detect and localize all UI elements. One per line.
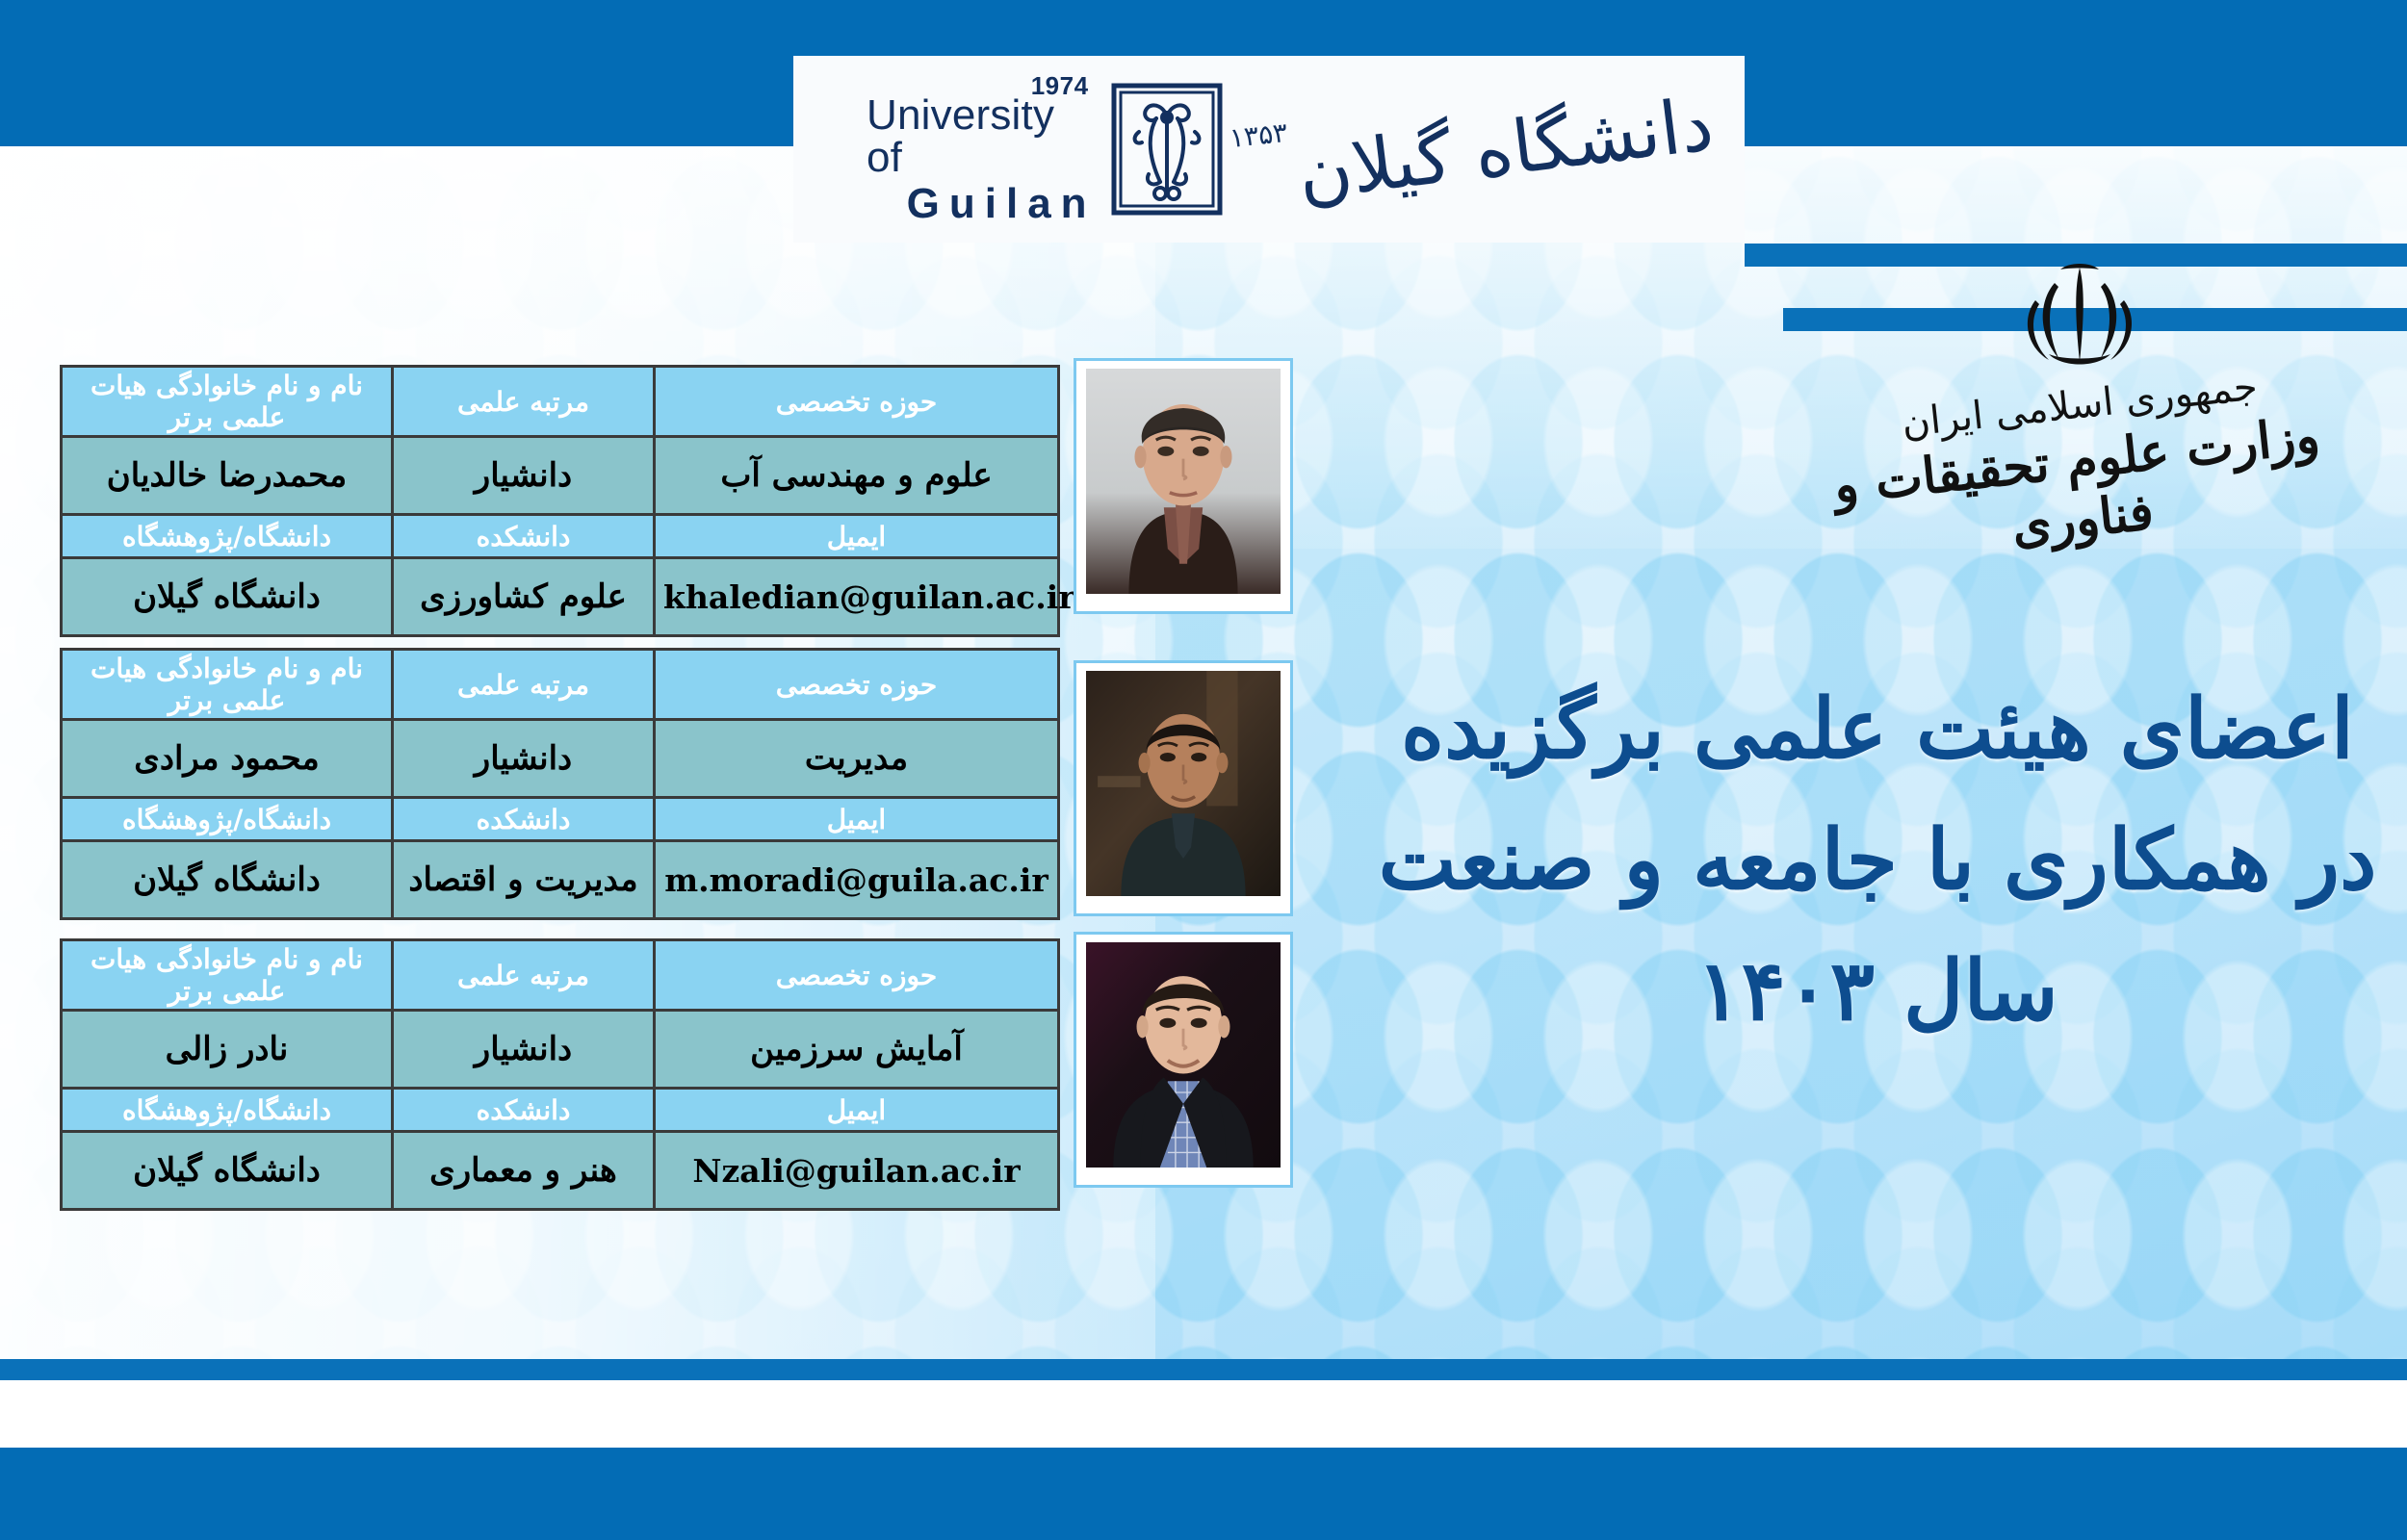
faculty-table: حوزه تخصصی مرتبه علمی نام و نام خانوادگی… bbox=[60, 365, 1060, 637]
column-header-email: ایمیل bbox=[655, 1089, 1059, 1132]
page-title-line-1: اعضای هیئت علمی برگزیده bbox=[1377, 664, 2378, 795]
table-row: مدیریت دانشیار محمود مرادی bbox=[62, 720, 1059, 798]
cell-specialty: علوم و مهندسی آب bbox=[655, 437, 1059, 515]
column-header-school: دانشکده bbox=[393, 515, 655, 558]
cell-academic-rank: دانشیار bbox=[393, 437, 655, 515]
footer-white-band bbox=[0, 1380, 2407, 1448]
table-header-row: ایمیل دانشکده دانشگاه/پژوهشگاه bbox=[62, 1089, 1059, 1132]
cell-institution: دانشگاه گیلان bbox=[62, 558, 393, 636]
avatar bbox=[1086, 671, 1281, 896]
ministry-block: جمهوری اسلامی ایران وزارت علوم تحقیقات و… bbox=[1810, 258, 2349, 549]
cell-institution: دانشگاه گیلان bbox=[62, 1132, 393, 1210]
faculty-table: حوزه تخصصی مرتبه علمی نام و نام خانوادگی… bbox=[60, 938, 1060, 1211]
table-row: Nzali@guilan.ac.ir هنر و معماری دانشگاه … bbox=[62, 1132, 1059, 1210]
cell-email[interactable]: Nzali@guilan.ac.ir bbox=[655, 1132, 1059, 1210]
column-header-academic-rank: مرتبه علمی bbox=[393, 940, 655, 1011]
table-row: آمایش سرزمین دانشیار نادر زالی bbox=[62, 1011, 1059, 1089]
poster-canvas: 1974 University of Guilan ۱۳۵۳ bbox=[0, 0, 2407, 1540]
column-header-specialty: حوزه تخصصی bbox=[655, 367, 1059, 437]
university-founded-year-persian: ۱۳۵۳ bbox=[1228, 116, 1288, 154]
portrait-photo-3 bbox=[1086, 942, 1281, 1168]
table-header-row: ایمیل دانشکده دانشگاه/پژوهشگاه bbox=[62, 798, 1059, 841]
faculty-photo-frame bbox=[1074, 358, 1293, 614]
column-header-specialty: حوزه تخصصی bbox=[655, 650, 1059, 720]
faculty-photo-frame bbox=[1074, 932, 1293, 1188]
page-title: اعضای هیئت علمی برگزیده در همکاری با جام… bbox=[1377, 664, 2378, 1057]
cell-specialty: مدیریت bbox=[655, 720, 1059, 798]
cell-school: هنر و معماری bbox=[393, 1132, 655, 1210]
table-header-row: حوزه تخصصی مرتبه علمی نام و نام خانوادگی… bbox=[62, 940, 1059, 1011]
column-header-name: نام و نام خانوادگی هیات علمی برتر bbox=[62, 367, 393, 437]
page-title-line-2: در همکاری با جامعه و صنعت bbox=[1377, 795, 2378, 926]
cell-school: علوم کشاورزی bbox=[393, 558, 655, 636]
table-row: khaledian@guilan.ac.ir علوم کشاورزی دانش… bbox=[62, 558, 1059, 636]
page-title-line-3: سال ۱۴۰۳ bbox=[1377, 926, 2378, 1057]
column-header-name: نام و نام خانوادگی هیات علمی برتر bbox=[62, 650, 393, 720]
cell-school: مدیریت و اقتصاد bbox=[393, 841, 655, 919]
column-header-email: ایمیل bbox=[655, 798, 1059, 841]
table-header-row: ایمیل دانشکده دانشگاه/پژوهشگاه bbox=[62, 515, 1059, 558]
table-row: علوم و مهندسی آب دانشیار محمدرضا خالدیان bbox=[62, 437, 1059, 515]
column-header-school: دانشکده bbox=[393, 798, 655, 841]
university-logo-line2: Guilan bbox=[907, 183, 1097, 225]
cell-email[interactable]: m.moradi@guila.ac.ir bbox=[655, 841, 1059, 919]
column-header-academic-rank: مرتبه علمی bbox=[393, 367, 655, 437]
faculty-photo-frame bbox=[1074, 660, 1293, 916]
column-header-institution: دانشگاه/پژوهشگاه bbox=[62, 798, 393, 841]
cell-name: نادر زالی bbox=[62, 1011, 393, 1089]
cell-institution: دانشگاه گیلان bbox=[62, 841, 393, 919]
cell-email[interactable]: khaledian@guilan.ac.ir bbox=[655, 558, 1059, 636]
cell-name: محمدرضا خالدیان bbox=[62, 437, 393, 515]
column-header-institution: دانشگاه/پژوهشگاه bbox=[62, 1089, 393, 1132]
cell-academic-rank: دانشیار bbox=[393, 720, 655, 798]
avatar bbox=[1086, 942, 1281, 1168]
university-logo: 1974 University of Guilan ۱۳۵۳ bbox=[867, 77, 1714, 221]
footer-blue-band bbox=[0, 1448, 2407, 1540]
faculty-table: حوزه تخصصی مرتبه علمی نام و نام خانوادگی… bbox=[60, 648, 1060, 920]
university-logo-persian-name: دانشگاه گیلان bbox=[1294, 88, 1717, 211]
table-header-row: حوزه تخصصی مرتبه علمی نام و نام خانوادگی… bbox=[62, 650, 1059, 720]
column-header-school: دانشکده bbox=[393, 1089, 655, 1132]
cell-specialty: آمایش سرزمین bbox=[655, 1011, 1059, 1089]
cell-academic-rank: دانشیار bbox=[393, 1011, 655, 1089]
guilan-butterfly-mark-icon bbox=[1110, 82, 1224, 217]
column-header-email: ایمیل bbox=[655, 515, 1059, 558]
column-header-name: نام و نام خانوادگی هیات علمی برتر bbox=[62, 940, 393, 1011]
portrait-photo-1 bbox=[1086, 369, 1281, 594]
column-header-specialty: حوزه تخصصی bbox=[655, 940, 1059, 1011]
portrait-photo-2 bbox=[1086, 671, 1281, 896]
column-header-academic-rank: مرتبه علمی bbox=[393, 650, 655, 720]
column-header-institution: دانشگاه/پژوهشگاه bbox=[62, 515, 393, 558]
iran-national-emblem-icon bbox=[2016, 258, 2143, 373]
footer-thin-band bbox=[0, 1359, 2407, 1380]
university-logo-english: 1974 University of Guilan bbox=[867, 73, 1097, 225]
avatar bbox=[1086, 369, 1281, 594]
university-logo-line1: University of bbox=[867, 94, 1097, 179]
table-row: m.moradi@guila.ac.ir مدیریت و اقتصاد دان… bbox=[62, 841, 1059, 919]
table-header-row: حوزه تخصصی مرتبه علمی نام و نام خانوادگی… bbox=[62, 367, 1059, 437]
cell-name: محمود مرادی bbox=[62, 720, 393, 798]
